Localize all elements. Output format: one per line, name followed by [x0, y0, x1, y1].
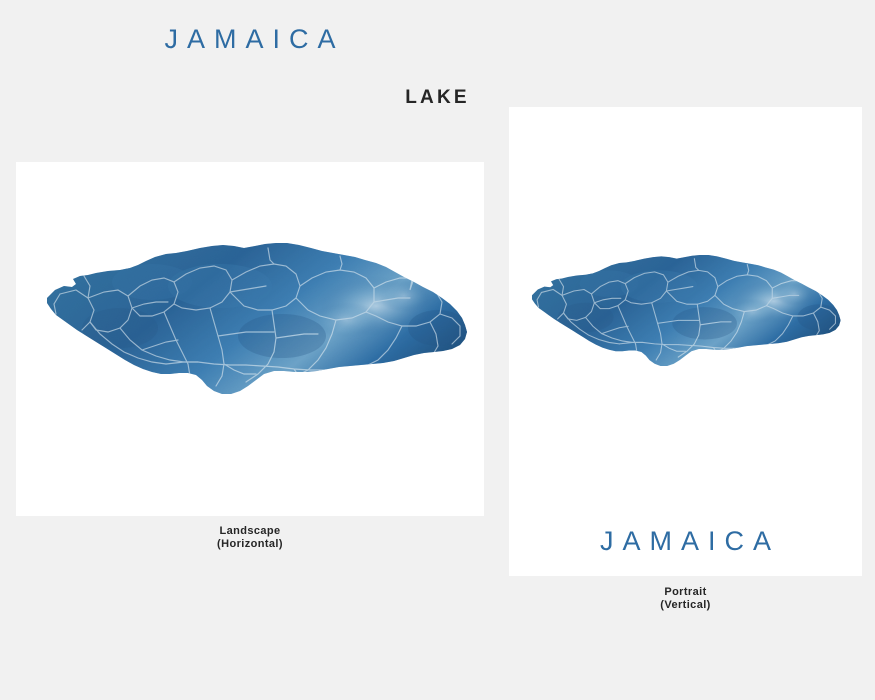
map-artwork-landscape [16, 172, 484, 422]
page-title: LAKE [0, 87, 875, 109]
poster-preview-canvas: LAKE [0, 0, 875, 700]
print-preview-landscape[interactable]: JAMAICA [16, 162, 484, 516]
caption-landscape: Landscape (Horizontal) [16, 525, 484, 551]
artwork-title-portrait: JAMAICA [509, 526, 862, 557]
print-preview-portrait[interactable]: JAMAICA [509, 107, 862, 576]
caption-portrait-line2: (Vertical) [509, 599, 862, 612]
artwork-title-landscape: JAMAICA [16, 24, 484, 55]
map-artwork-portrait [509, 185, 862, 435]
caption-portrait: Portrait (Vertical) [509, 586, 862, 612]
island-map-icon [16, 172, 484, 422]
caption-landscape-line1: Landscape [219, 525, 280, 537]
caption-portrait-line1: Portrait [664, 586, 706, 598]
caption-landscape-line2: (Horizontal) [16, 538, 484, 551]
island-map-icon [509, 185, 862, 435]
